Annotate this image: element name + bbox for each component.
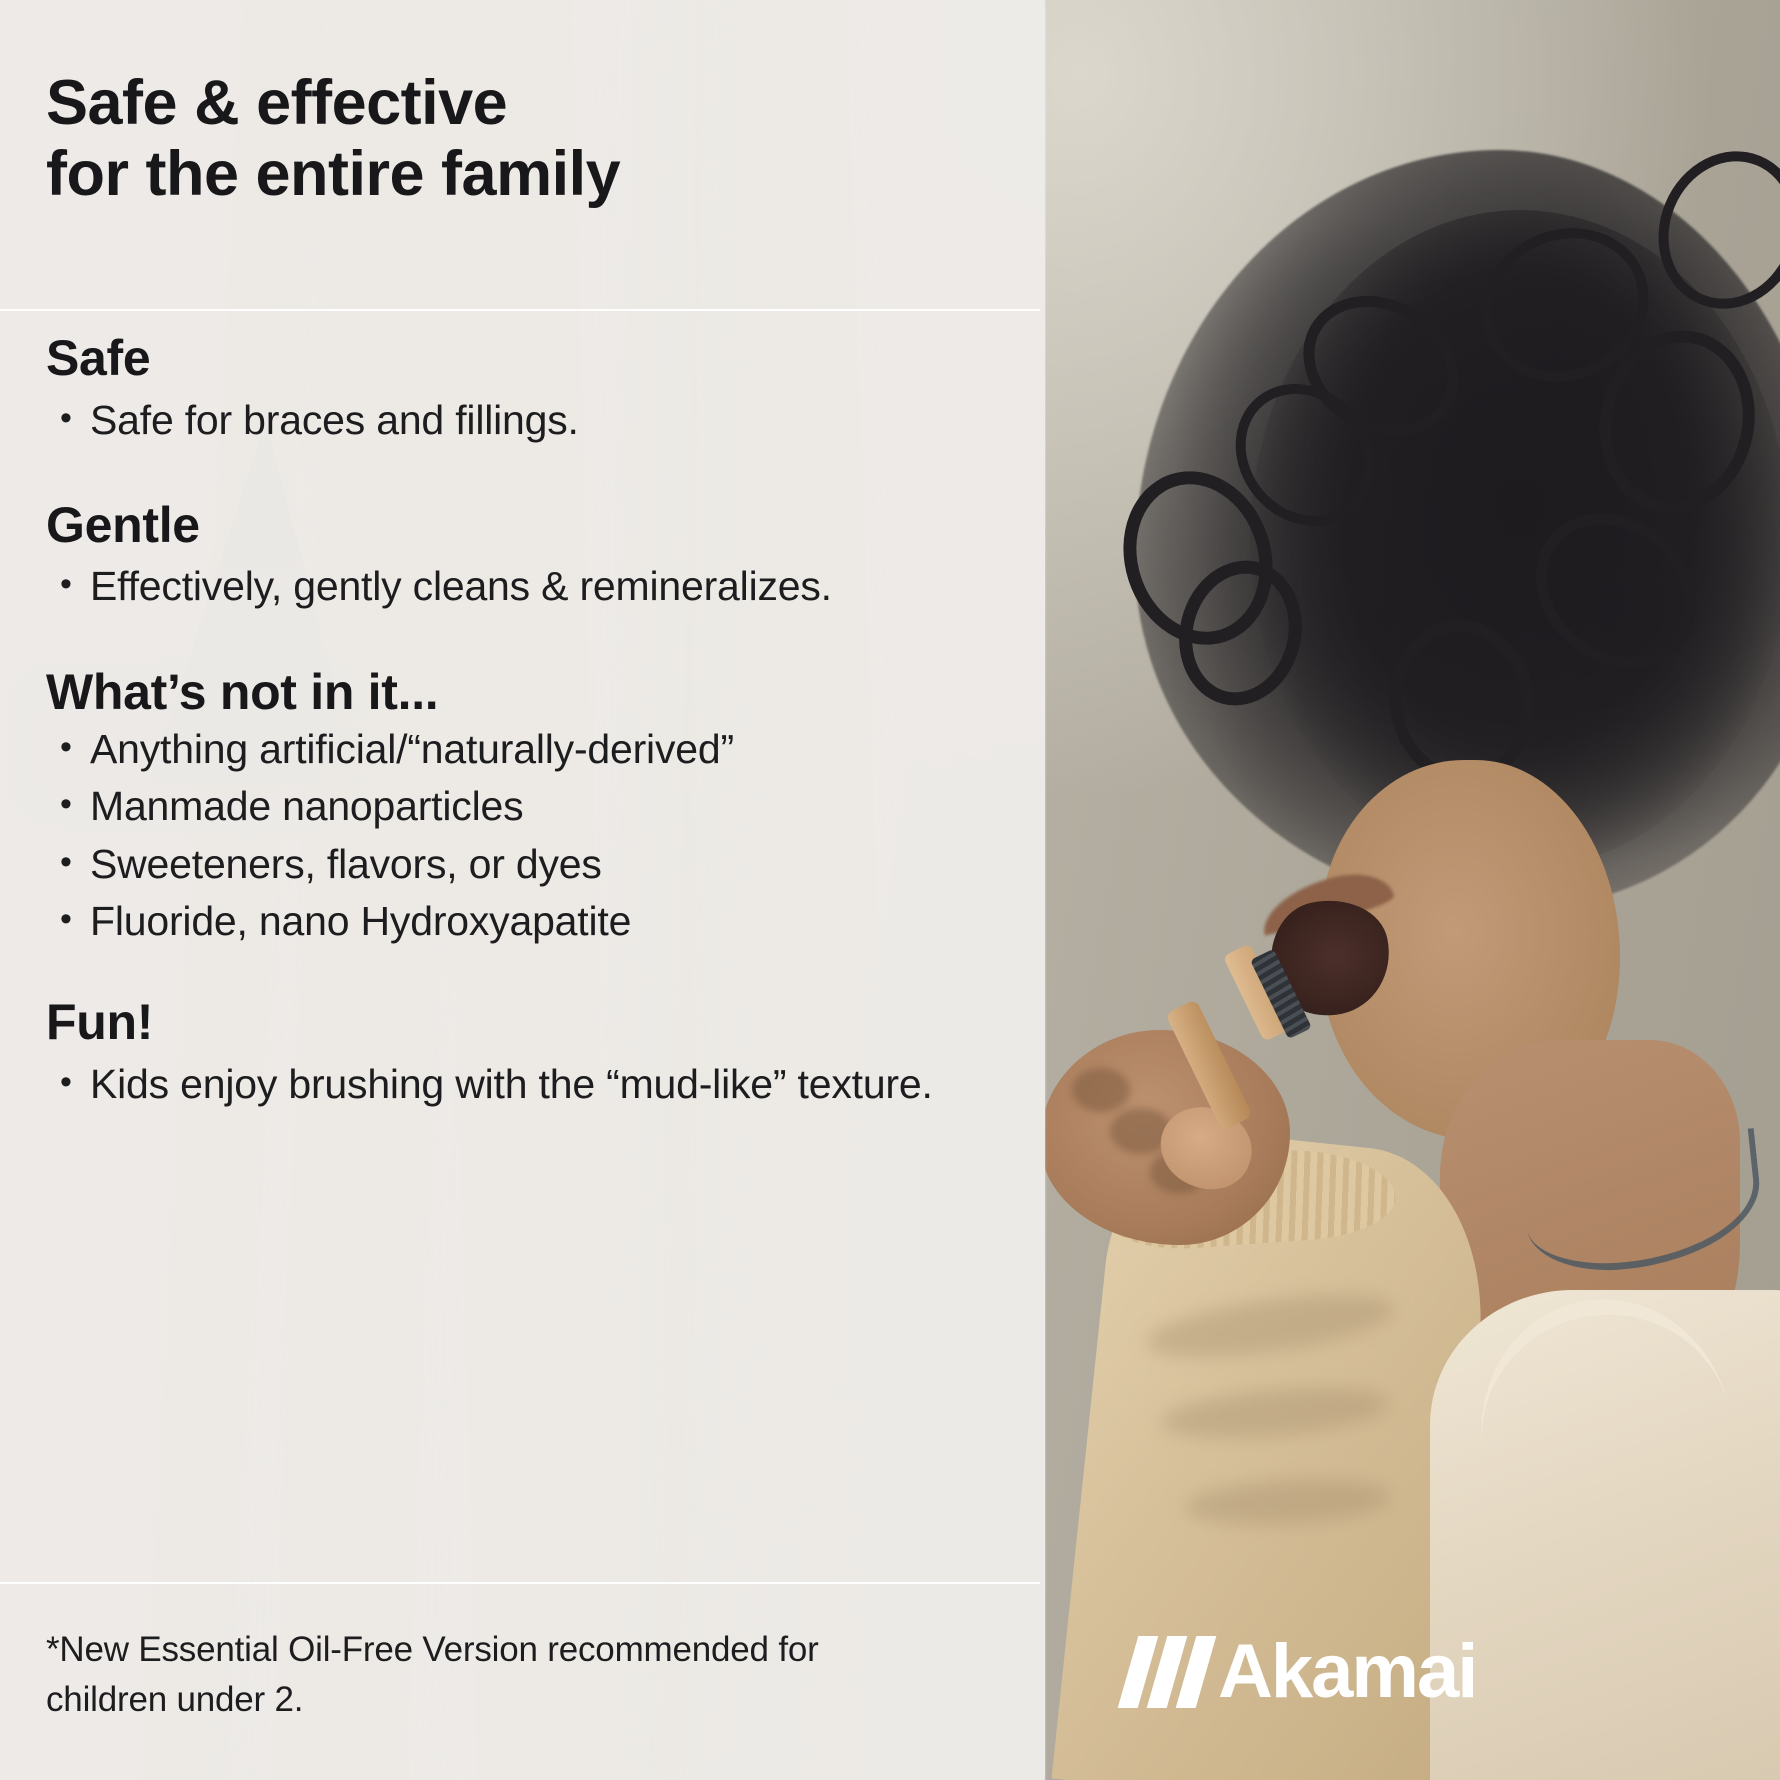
list-item: Sweeteners, flavors, or dyes — [90, 838, 1036, 891]
section-whats-not-in-it: What’s not in it... Anything artificial/… — [46, 664, 1036, 949]
list-item: Safe for braces and fillings. — [90, 394, 1036, 447]
promo-graphic: Safe & effective for the entire family S… — [0, 0, 1780, 1780]
section-bullet-list: Anything artificial/“naturally-derived” … — [46, 723, 1036, 948]
section-gentle: Gentle Effectively, gently cleans & remi… — [46, 497, 1036, 614]
list-item: Effectively, gently cleans & remineraliz… — [90, 560, 1036, 613]
akamai-logo: Akamai — [1128, 1636, 1476, 1708]
benefit-sections: Safe Safe for braces and fillings. Gentl… — [46, 330, 1036, 1115]
section-fun: Fun! Kids enjoy brushing with the “mud-l… — [46, 994, 1036, 1111]
section-title: Fun! — [46, 994, 1036, 1052]
headline-line-1: Safe & effective — [46, 68, 946, 139]
list-item: Anything artificial/“naturally-derived” — [90, 723, 1036, 776]
divider-bottom — [0, 1582, 1040, 1584]
section-bullet-list: Kids enjoy brushing with the “mud-like” … — [46, 1058, 1036, 1111]
headline-line-2: for the entire family — [46, 139, 946, 210]
spacer — [46, 451, 1036, 497]
card-content: Safe & effective for the entire family S… — [0, 0, 1045, 1780]
knuckle-shadow — [1072, 1068, 1130, 1112]
section-safe: Safe Safe for braces and fillings. — [46, 330, 1036, 447]
spacer — [46, 952, 1036, 994]
section-bullet-list: Effectively, gently cleans & remineraliz… — [46, 560, 1036, 613]
list-item: Kids enjoy brushing with the “mud-like” … — [90, 1058, 1036, 1111]
section-title: What’s not in it... — [46, 664, 1036, 722]
logo-wordmark: Akamai — [1218, 1636, 1476, 1708]
three-slash-icon — [1128, 1636, 1206, 1708]
list-item: Fluoride, nano Hydroxyapatite — [90, 895, 1036, 948]
section-title: Gentle — [46, 497, 1036, 555]
page-title: Safe & effective for the entire family — [46, 68, 946, 209]
section-title: Safe — [46, 330, 1036, 388]
divider-top — [0, 309, 1040, 311]
footnote-text: *New Essential Oil-Free Version recommen… — [46, 1625, 906, 1724]
section-bullet-list: Safe for braces and fillings. — [46, 394, 1036, 447]
spacer — [46, 618, 1036, 664]
list-item: Manmade nanoparticles — [90, 780, 1036, 833]
